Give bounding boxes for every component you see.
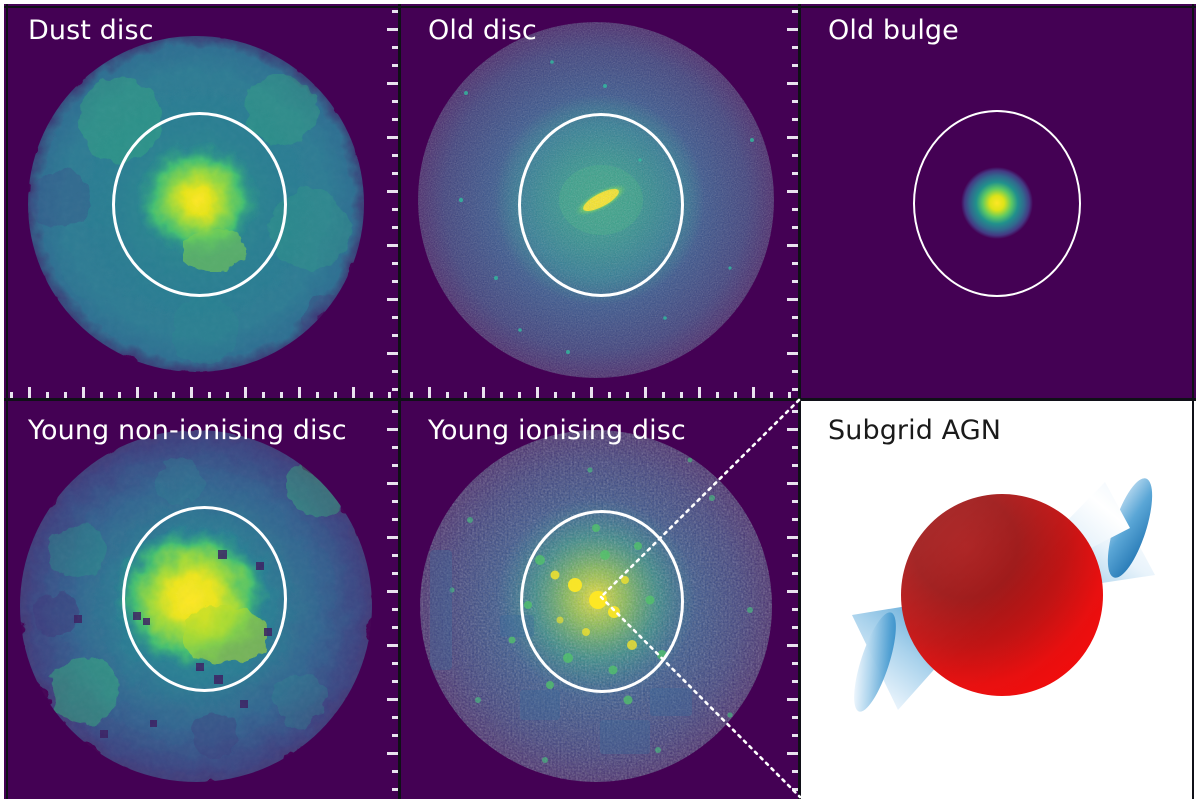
aperture-ellipse-old-disc [518, 113, 684, 297]
panel-title-old-bulge: Old bulge [828, 17, 959, 44]
panel-title-old-disc: Old disc [428, 17, 537, 44]
panel-old-disc-image [400, 0, 800, 400]
frame-line-left [6, 0, 8, 803]
frame-line-vertical-1 [398, 0, 401, 400]
panel-old-bulge: Old bulge [800, 0, 1200, 400]
multi-panel-figure: Dust disc [0, 0, 1200, 803]
frame-line-right [1192, 0, 1194, 803]
frame-line-vertical-4 [798, 400, 801, 803]
panel-dust-disc-image [0, 0, 400, 400]
accretion-sphere-group [901, 494, 1103, 696]
panel-title-subgrid-agn: Subgrid AGN [828, 417, 1001, 444]
panel-old-bulge-image [800, 0, 1200, 400]
panel-title-dust-disc: Dust disc [28, 17, 154, 44]
panel-dust-disc: Dust disc [0, 0, 400, 400]
frame-line-vertical-3 [398, 400, 401, 803]
frame-line-top [0, 6, 1200, 8]
frame-line-horizontal-1 [0, 398, 800, 401]
panel-old-disc: Old disc [400, 0, 800, 400]
agn-schematic [800, 400, 1200, 803]
panel-subgrid-agn: Subgrid AGN [800, 400, 1200, 803]
panel-young-non-ionising-disc: Young non-ionising disc [0, 400, 400, 803]
frame-line-horizontal-2 [800, 398, 1200, 401]
panel-title-young-ionising-disc: Young ionising disc [428, 417, 686, 444]
aperture-ellipse-young-non-ionising-disc [122, 506, 287, 692]
aperture-ellipse-old-bulge [913, 110, 1081, 297]
panel-young-ionising-disc-image [400, 400, 800, 803]
aperture-ellipse-young-ionising-disc [520, 510, 684, 693]
panel-grid: Dust disc [0, 0, 1200, 803]
panel-young-non-ionising-disc-image [0, 400, 400, 803]
agn-diagram [800, 400, 1200, 803]
frame-line-vertical-2 [798, 0, 801, 400]
panel-young-ionising-disc: Young ionising disc [400, 400, 800, 803]
panel-title-young-non-ionising-disc: Young non-ionising disc [28, 417, 347, 444]
aperture-ellipse-dust-disc [112, 112, 287, 297]
